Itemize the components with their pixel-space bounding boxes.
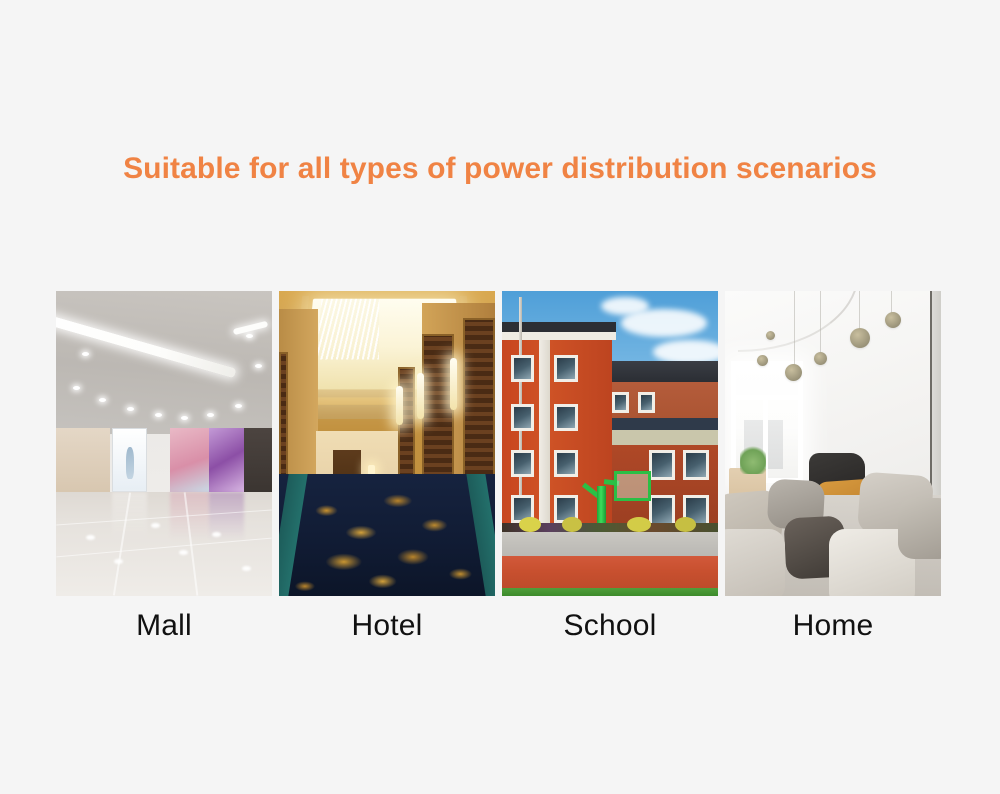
home-hanging-string <box>794 291 795 370</box>
hotel-carpet <box>279 474 495 596</box>
scenario-label-row: Mall Hotel School Home <box>56 604 944 650</box>
hotel-photo <box>279 291 495 596</box>
mall-photo <box>56 291 272 596</box>
promo-banner: Suitable for all types of power distribu… <box>0 0 1000 794</box>
scenario-label-school: School <box>502 604 718 650</box>
mall-storefront-dark <box>244 428 272 492</box>
school-basketball-hoop-icon <box>614 471 651 502</box>
school-window <box>511 355 535 382</box>
scenario-tile-hotel[interactable] <box>279 291 495 596</box>
school-pillar <box>539 340 550 523</box>
scenario-label-home: Home <box>725 604 941 650</box>
school-facade-band <box>601 430 718 445</box>
mall-storefront-purple <box>209 428 244 492</box>
school-window <box>554 450 578 477</box>
mall-downlight-icon <box>82 352 89 356</box>
mall-floor-highlight <box>151 523 160 528</box>
school-walkway <box>502 532 718 559</box>
mall-display-screen <box>112 428 147 492</box>
mall-storefront-warm <box>56 428 110 492</box>
home-wall-decor-icon <box>766 331 775 340</box>
school-window <box>511 404 535 431</box>
school-shrub-icon <box>562 517 581 532</box>
hotel-wall-sconce-icon <box>417 373 424 419</box>
school-window <box>612 392 629 413</box>
home-cushion <box>898 498 941 559</box>
school-photo <box>502 291 718 596</box>
school-shrub-icon <box>519 517 541 532</box>
school-shrub-icon <box>627 517 651 532</box>
school-window <box>511 450 535 477</box>
home-photo <box>725 291 941 596</box>
mall-storefront-pink <box>170 428 209 492</box>
school-window <box>554 355 578 382</box>
school-turf <box>502 588 718 596</box>
scenario-label-mall: Mall <box>56 604 272 650</box>
hotel-carved-screen <box>463 318 495 495</box>
scenario-tile-school[interactable] <box>502 291 718 596</box>
home-wall-decor-icon <box>814 352 827 365</box>
mall-downlight-icon <box>99 398 106 402</box>
school-window <box>683 450 709 481</box>
mall-downlight-icon <box>235 404 242 408</box>
school-window <box>638 392 655 413</box>
mall-downlight-icon <box>73 386 80 390</box>
school-running-track <box>502 556 718 590</box>
mall-downlight-icon <box>246 334 253 338</box>
home-wall-edge <box>930 291 932 511</box>
hotel-carved-screen <box>422 334 454 493</box>
home-wall-decor-icon <box>850 328 870 348</box>
school-shrub-icon <box>675 517 697 532</box>
home-plant-icon <box>740 444 766 475</box>
scenario-label-hotel: Hotel <box>279 604 495 650</box>
scenario-tile-mall[interactable] <box>56 291 272 596</box>
mall-floor-highlight <box>242 566 251 571</box>
school-window <box>649 495 675 526</box>
school-window <box>554 404 578 431</box>
school-roof-rear <box>597 361 718 382</box>
scenario-tile-home[interactable] <box>725 291 941 596</box>
hotel-wall-sconce-icon <box>450 358 457 410</box>
home-cushion <box>725 529 785 596</box>
scenario-image-row <box>56 291 944 596</box>
mall-floor-highlight <box>212 532 221 537</box>
school-window <box>649 450 675 481</box>
mall-ceiling <box>56 291 272 434</box>
hotel-wall-sconce-icon <box>396 386 403 426</box>
hotel-carved-screen <box>279 352 288 480</box>
home-hanging-string <box>820 291 821 358</box>
page-title: Suitable for all types of power distribu… <box>0 152 1000 186</box>
